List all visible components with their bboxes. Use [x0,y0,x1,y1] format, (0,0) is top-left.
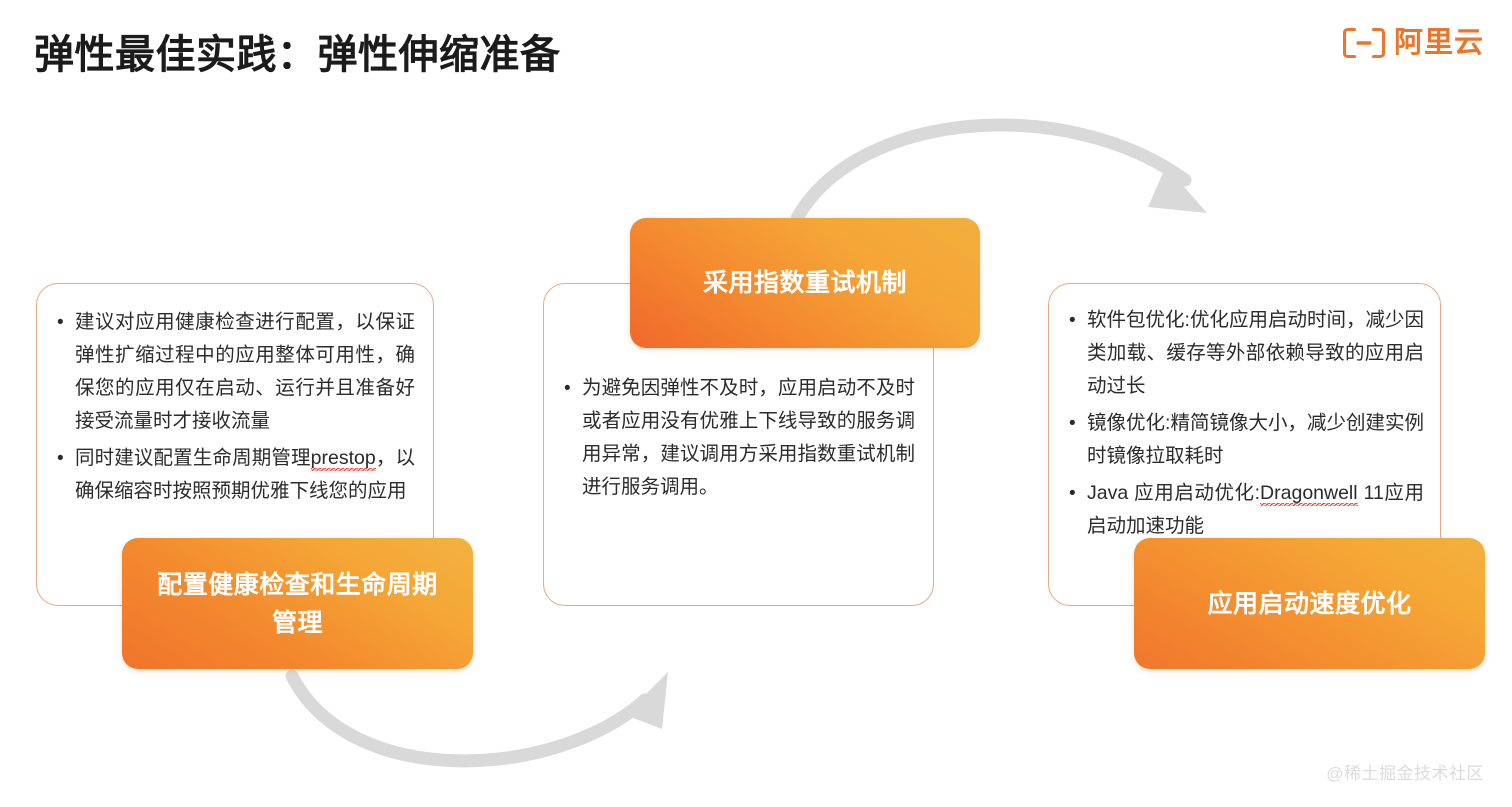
list-item: 镜像优化:精简镜像大小，减少创建实例时镜像拉取耗时 [1067,407,1424,473]
spellcheck-word: prestop [311,447,376,471]
brand-name: 阿里云 [1394,29,1484,58]
page-title: 弹性最佳实践：弹性伸缩准备 [34,22,561,80]
chip-label-exponential-retry[interactable]: 采用指数重试机制 [630,218,980,348]
alibaba-cloud-mark-icon [1343,27,1385,59]
arrow-card1-to-card2 [292,672,668,761]
bullet-list: 建议对应用健康检查进行配置，以保证弹性扩缩过程中的应用整体可用性，确保您的应用仅… [37,284,433,508]
chip-text: 采用指数重试机制 [703,264,907,302]
spellcheck-word: Dragonwell [1260,482,1358,506]
list-item: 为避免因弹性不及时，应用启动不及时或者应用没有优雅上下线导致的服务调用异常，建议… [562,372,915,504]
chip-label-startup-speed[interactable]: 应用启动速度优化 [1134,538,1485,669]
chip-text: 配置健康检查和生命周期管理 [148,566,447,642]
chip-label-health-check[interactable]: 配置健康检查和生命周期管理 [122,538,473,669]
alibaba-cloud-logo: 阿里云 [1343,27,1484,59]
chip-text: 应用启动速度优化 [1207,585,1411,623]
list-item: Java 应用启动优化:Dragonwell 11应用启动加速功能 [1067,477,1424,543]
arrow-card2-to-card3 [797,125,1207,218]
watermark: @稀土掘金技术社区 [1326,759,1484,784]
list-item: 建议对应用健康检查进行配置，以保证弹性扩缩过程中的应用整体可用性，确保您的应用仅… [55,306,415,438]
bullet-list: 软件包优化:优化应用启动时间，减少因类加载、缓存等外部依赖导致的应用启动过长 镜… [1049,284,1440,543]
list-item: 软件包优化:优化应用启动时间，减少因类加载、缓存等外部依赖导致的应用启动过长 [1067,304,1424,403]
list-item: 同时建议配置生命周期管理prestop，以确保缩容时按照预期优雅下线您的应用 [55,442,415,508]
slide-canvas: 弹性最佳实践：弹性伸缩准备 阿里云 建议对应用健康检查进行配置，以保证弹性扩缩过… [0,0,1512,807]
